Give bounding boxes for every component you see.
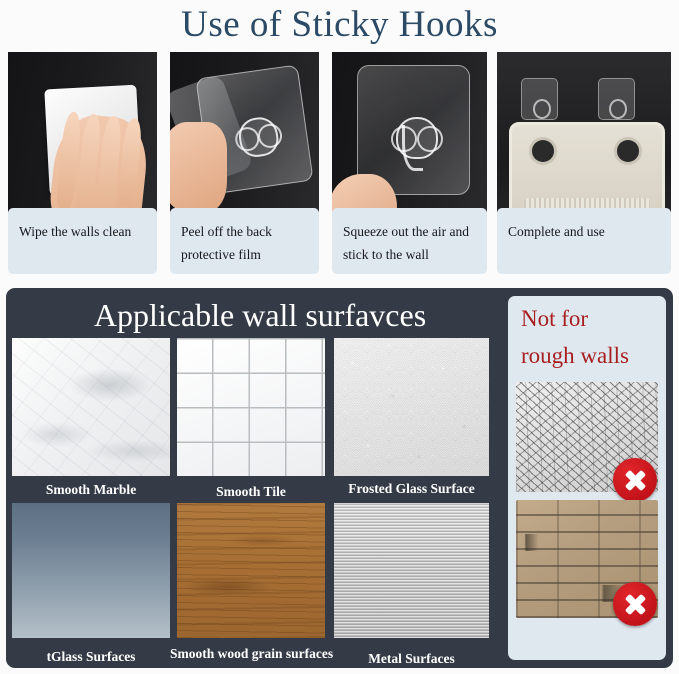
surface-tile-smooth-tile	[177, 338, 325, 476]
step-photo-peel-film	[170, 52, 319, 212]
grommet-icon	[614, 137, 642, 165]
step-card-3: Squeeze out the air and stick to the wal…	[332, 52, 487, 280]
hook-ring-icon	[609, 99, 627, 119]
step-caption-3: Squeeze out the air and stick to the wal…	[332, 208, 487, 274]
step-photo-wipe-wall	[8, 52, 157, 212]
hand-icon	[170, 122, 227, 212]
not-for-line-1: Not for	[521, 300, 653, 337]
surface-tile-wood-grain	[177, 503, 325, 638]
step-card-4: Complete and use	[497, 52, 671, 280]
red-x-icon	[613, 582, 657, 626]
hook-ring-icon	[533, 99, 551, 119]
surface-tile-smooth-marble	[12, 338, 170, 476]
page-title: Use of Sticky Hooks	[0, 2, 679, 48]
step-caption-4: Complete and use	[497, 208, 671, 274]
step-photo-press-hook	[332, 52, 487, 212]
step-photo-complete	[497, 52, 671, 212]
surface-label-wood-grain: Smooth wood grain surfaces	[170, 645, 333, 663]
fabric-organizer-icon	[509, 122, 665, 212]
red-x-icon	[613, 458, 657, 502]
surface-tile-frosted-glass	[334, 338, 489, 476]
step-card-2: Peel off the back protective film	[170, 52, 319, 280]
step-card-1: Wipe the walls clean	[8, 52, 157, 280]
surface-label-metal: Metal Surfaces	[334, 650, 489, 668]
surface-label-glass: tGlass Surfaces	[12, 648, 170, 666]
step-caption-1: Wipe the walls clean	[8, 208, 157, 274]
not-for-rough-walls-heading: Not for rough walls	[511, 300, 663, 374]
surface-label-smooth-tile: Smooth Tile	[177, 483, 325, 501]
clear-hook-pad-icon	[521, 78, 558, 120]
grommet-icon	[529, 137, 557, 165]
not-for-line-2: rough walls	[521, 337, 653, 374]
step-caption-2: Peel off the back protective film	[170, 208, 319, 274]
infographic-page: Use of Sticky Hooks Wipe the walls clean	[0, 0, 679, 674]
surface-tile-glass	[12, 503, 170, 638]
surface-label-frosted-glass: Frosted Glass Surface	[330, 480, 493, 498]
hook-arm-icon	[402, 125, 423, 172]
steps-strip: Wipe the walls clean Peel off the back p…	[0, 52, 679, 280]
surfaces-heading: Applicable wall surfavces	[30, 295, 490, 335]
surface-tile-metal	[334, 503, 489, 638]
clear-hook-pad-icon	[598, 78, 635, 120]
surface-label-smooth-marble: Smooth Marble	[12, 481, 170, 499]
